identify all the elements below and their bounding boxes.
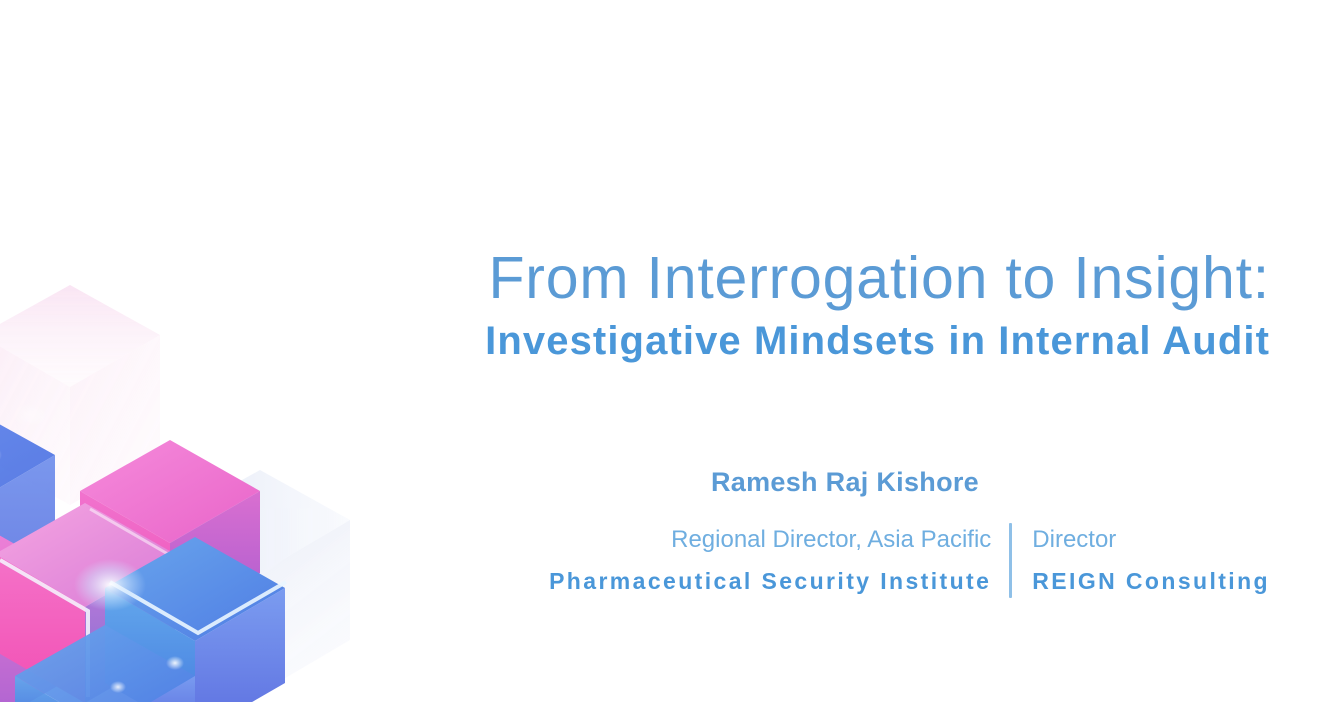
title-line-primary: From Interrogation to Insight: — [300, 243, 1270, 313]
affiliation-left-role: Regional Director, Asia Pacific — [549, 520, 991, 560]
affiliation-right: Director REIGN Consulting — [1012, 520, 1270, 602]
title-line-subtitle: Investigative Mindsets in Internal Audit — [300, 313, 1270, 369]
slide-title: From Interrogation to Insight: Investiga… — [300, 243, 1270, 369]
title-slide: From Interrogation to Insight: Investiga… — [0, 0, 1327, 702]
author-block: Ramesh Raj Kishore Regional Director, As… — [420, 462, 1270, 602]
affiliation-right-role: Director — [1032, 520, 1270, 560]
affiliation-left-organization: Pharmaceutical Security Institute — [549, 560, 991, 602]
author-name: Ramesh Raj Kishore — [420, 462, 1270, 502]
affiliations-row: Regional Director, Asia Pacific Pharmace… — [420, 520, 1270, 602]
affiliation-right-organization: REIGN Consulting — [1032, 560, 1270, 602]
affiliation-left: Regional Director, Asia Pacific Pharmace… — [549, 520, 1009, 602]
